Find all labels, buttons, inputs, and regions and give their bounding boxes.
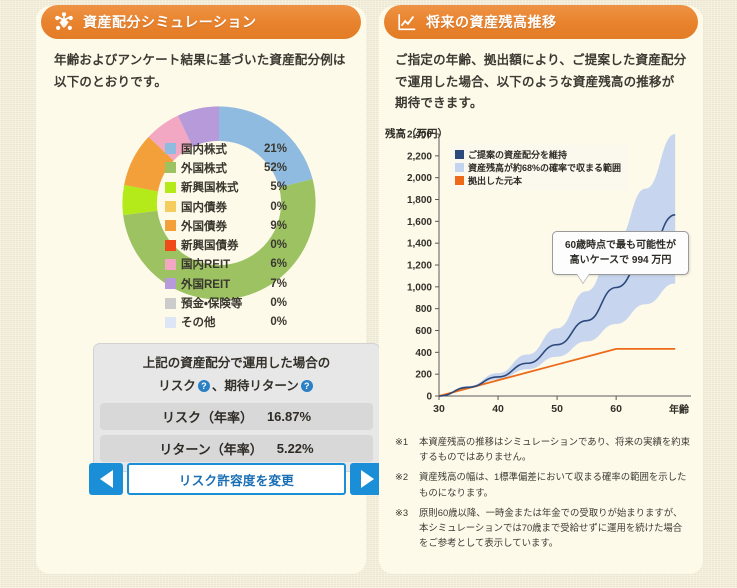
- list-item: ご提案の資産配分を維持: [455, 148, 621, 161]
- line-chart-icon: [396, 11, 418, 33]
- balance-projection-title: 将来の資産残高推移: [426, 12, 557, 32]
- balance-projection-intro: ご指定の年齢、拠出額により、ご提案した資産配分で運用した場合、以下のような資産残…: [395, 50, 687, 115]
- svg-text:1,000: 1,000: [407, 282, 432, 293]
- svg-text:2,200: 2,200: [407, 151, 432, 162]
- risk-return-box: 上記の資産配分で運用した場合の リスク?、期待リターン? リスク（年率） 16.…: [93, 343, 380, 472]
- legend-label: その他: [181, 314, 270, 330]
- footnote-text: 資産残高の幅は、1標準偏差において収まる確率の範囲を示したものになります。: [419, 469, 691, 499]
- list-item: 資産残高が約68%の確率で収まる範囲: [455, 161, 621, 174]
- balance-projection-panel: 将来の資産残高推移 ご指定の年齢、拠出額により、ご提案した資産配分で運用した場合…: [379, 6, 703, 574]
- svg-text:1,200: 1,200: [407, 261, 432, 272]
- prev-button[interactable]: [89, 463, 123, 495]
- arrow-right-icon: [361, 470, 374, 488]
- list-item: 外国REIT 7%: [165, 274, 287, 293]
- legend-swatch: [165, 278, 176, 289]
- legend-label: 預金・保険等: [181, 295, 270, 311]
- svg-text:200: 200: [415, 370, 432, 381]
- legend-swatch: [165, 201, 176, 212]
- svg-text:0: 0: [426, 392, 432, 403]
- asset-allocation-intro: 年齢およびアンケート結果に基づいた資産配分例は以下のとおりです。: [54, 50, 354, 93]
- legend-value: 0%: [270, 201, 287, 213]
- risk-word: リスク: [158, 379, 196, 393]
- list-item: 新興国株式 5%: [165, 178, 287, 197]
- legend-value: 0%: [270, 297, 287, 309]
- legend-swatch: [165, 162, 176, 173]
- chart-callout: 60歳時点で最も可能性が 高いケースで 994 万円: [552, 231, 689, 275]
- svg-text:30: 30: [433, 403, 445, 415]
- footnotes: ※1 本資産残高の推移はシミュレーションであり、将来の実績を約束するものではあり…: [395, 434, 691, 556]
- footnote-mark: ※2: [395, 469, 419, 499]
- list-item: 国内債券 0%: [165, 197, 287, 216]
- legend-swatch: [165, 182, 176, 193]
- svg-text:年齢: 年齢: [669, 403, 690, 416]
- callout-line-1: 60歳時点で最も可能性が: [557, 238, 684, 253]
- svg-text:50: 50: [551, 403, 563, 415]
- svg-text:400: 400: [415, 348, 432, 359]
- svg-text:800: 800: [415, 304, 432, 315]
- legend-label: 国内債券: [181, 199, 270, 215]
- return-label: リターン（年率）: [159, 439, 262, 458]
- legend-value: 52%: [264, 162, 287, 174]
- legend-label: 拠出した元本: [468, 174, 522, 187]
- question-icon[interactable]: ?: [198, 380, 210, 392]
- footnote-3: ※3 原則60歳以降、一時金または年金での受取りが始まりますが、本シミュレーショ…: [395, 505, 691, 551]
- return-row: リターン（年率） 5.22%: [100, 435, 373, 462]
- asset-allocation-title: 資産配分シミュレーション: [83, 12, 256, 32]
- svg-text:600: 600: [415, 326, 432, 337]
- risk-value: 16.87%: [267, 409, 311, 424]
- legend-swatch: [165, 240, 176, 251]
- return-word: 、期待リターン: [212, 379, 299, 393]
- legend-swatch: [455, 163, 464, 172]
- list-item: 国内株式 21%: [165, 139, 287, 158]
- footnote-mark: ※1: [395, 434, 419, 464]
- legend-swatch: [165, 259, 176, 270]
- list-item: 新興国債券 0%: [165, 235, 287, 254]
- legend-value: 5%: [270, 181, 287, 193]
- legend-value: 7%: [270, 278, 287, 290]
- risk-label: リスク（年率）: [162, 407, 253, 426]
- legend-value: 0%: [270, 316, 287, 328]
- svg-text:2,400: 2,400: [407, 130, 432, 141]
- chart-legend: ご提案の資産配分を維持 資産残高が約68%の確率で収まる範囲 拠出した元本: [451, 145, 627, 190]
- list-item: 外国株式 52%: [165, 158, 287, 177]
- legend-value: 6%: [270, 258, 287, 270]
- legend-label: 外国株式: [181, 160, 264, 176]
- list-item: 国内REIT 6%: [165, 255, 287, 274]
- svg-text:60: 60: [610, 403, 622, 415]
- svg-text:1,800: 1,800: [407, 195, 432, 206]
- risk-box-title-line2: リスク?、期待リターン?: [94, 375, 379, 398]
- legend-label: 資産残高が約68%の確率で収まる範囲: [468, 161, 621, 174]
- legend-label: 新興国債券: [181, 237, 270, 253]
- legend-label: ご提案の資産配分を維持: [468, 148, 567, 161]
- legend-swatch: [165, 298, 176, 309]
- change-risk-tolerance-button[interactable]: リスク許容度を変更: [127, 463, 346, 495]
- list-item: 拠出した元本: [455, 174, 621, 187]
- legend-value: 9%: [270, 220, 287, 232]
- svg-text:40: 40: [492, 403, 504, 415]
- legend-swatch: [455, 150, 464, 159]
- legend-swatch: [165, 220, 176, 231]
- simulation-page: 資産配分シミュレーション 年齢およびアンケート結果に基づいた資産配分例は以下のと…: [0, 0, 737, 588]
- legend-label: 新興国株式: [181, 179, 270, 195]
- list-item: その他 0%: [165, 313, 287, 332]
- legend-label: 国内REIT: [181, 256, 270, 272]
- callout-tail: [577, 274, 589, 283]
- asset-allocation-panel: 資産配分シミュレーション 年齢およびアンケート結果に基づいた資産配分例は以下のと…: [36, 6, 366, 574]
- legend-swatch: [165, 143, 176, 154]
- risk-row: リスク（年率） 16.87%: [100, 403, 373, 430]
- legend-label: 外国REIT: [181, 276, 270, 292]
- return-value: 5.22%: [277, 441, 314, 456]
- navigation-row: リスク許容度を変更: [89, 463, 384, 495]
- legend-label: 外国債券: [181, 218, 270, 234]
- legend-label: 国内株式: [181, 141, 264, 157]
- list-item: 預金・保険等 0%: [165, 293, 287, 312]
- svg-text:1,400: 1,400: [407, 239, 432, 250]
- footnote-1: ※1 本資産残高の推移はシミュレーションであり、将来の実績を約束するものではあり…: [395, 434, 691, 464]
- footnote-mark: ※3: [395, 505, 419, 551]
- arrow-left-icon: [100, 470, 113, 488]
- asset-allocation-header: 資産配分シミュレーション: [41, 5, 361, 39]
- footnote-text: 原則60歳以降、一時金または年金での受取りが始まりますが、本シミュレーションでは…: [419, 505, 691, 551]
- legend-value: 0%: [270, 239, 287, 251]
- legend-swatch: [455, 176, 464, 185]
- legend-value: 21%: [264, 143, 287, 155]
- footnote-2: ※2 資産残高の幅は、1標準偏差において収まる確率の範囲を示したものになります。: [395, 469, 691, 499]
- svg-text:1,600: 1,600: [407, 217, 432, 228]
- footnote-text: 本資産残高の推移はシミュレーションであり、将来の実績を約束するものではありません…: [419, 434, 691, 464]
- legend-swatch: [165, 317, 176, 328]
- question-icon[interactable]: ?: [301, 380, 313, 392]
- list-item: 外国債券 9%: [165, 216, 287, 235]
- balance-projection-header: 将来の資産残高推移: [384, 5, 698, 39]
- callout-line-2: 高いケースで 994 万円: [557, 253, 684, 268]
- risk-box-title-line1: 上記の資産配分で運用した場合の: [94, 352, 379, 375]
- svg-text:2,000: 2,000: [407, 173, 432, 184]
- allocation-legend: 国内株式 21% 外国株式 52% 新興国株式 5% 国内債券 0% 外国債券: [165, 139, 287, 332]
- molecule-icon: [53, 11, 75, 33]
